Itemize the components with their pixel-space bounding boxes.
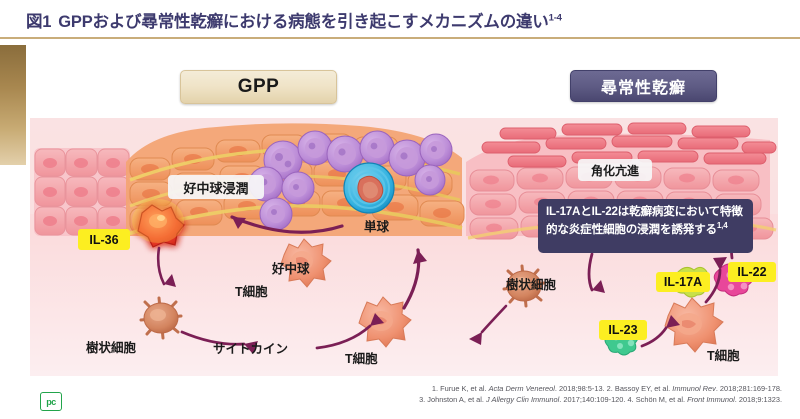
monocyte-cell: [344, 163, 394, 213]
tag-il23-label: IL-23: [608, 323, 637, 337]
left-accent-bar: [0, 45, 26, 165]
label-tcell-upper-left: T細胞: [235, 281, 268, 300]
tag-il36-label: IL-36: [89, 233, 118, 247]
tag-il22: IL-22: [728, 262, 776, 282]
tag-il17a: IL-17A: [656, 272, 710, 292]
references: 1. Furue K, et al. Acta Derm Venereol. 2…: [386, 383, 782, 406]
reference-line-1: 1. Furue K, et al. Acta Derm Venereol. 2…: [386, 383, 782, 394]
slide-root: 図1GPPおよび尋常性乾癬における病態を引き起こすメカニズムの違い1-4: [0, 0, 800, 419]
tag-il22-label: IL-22: [737, 265, 766, 279]
tag-il17a-label: IL-17A: [664, 275, 702, 289]
title-superscript: 1-4: [549, 13, 562, 24]
label-monocyte: 単球: [364, 216, 389, 235]
callout-text: IL-17AとIL-22は乾癬病変において特徴的な炎症性細胞の浸潤を誘発する: [546, 205, 743, 236]
label-neutrophil-infiltration-text: 好中球浸潤: [183, 178, 248, 197]
tag-il23: IL-23: [599, 320, 647, 340]
callout-superscript: 1,4: [717, 221, 728, 230]
label-hyperkeratosis-text: 角化亢進: [591, 162, 639, 179]
label-hyperkeratosis: 角化亢進: [578, 159, 652, 181]
callout-il17a-il22: IL-17AとIL-22は乾癬病変において特徴的な炎症性細胞の浸潤を誘発する1,…: [538, 199, 753, 253]
pc-logo-text: pc: [46, 397, 56, 407]
title-divider: [0, 37, 800, 39]
reference-line-2: 3. Johnston A, et al. J Allergy Clin Imm…: [386, 394, 782, 405]
panel-heading-psoriasis-label: 尋常性乾癬: [601, 74, 686, 98]
page-title: 図1GPPおよび尋常性乾癬における病態を引き起こすメカニズムの違い1-4: [26, 8, 562, 32]
label-neutrophil-infiltration: 好中球浸潤: [168, 175, 264, 199]
panel-heading-gpp-label: GPP: [238, 76, 280, 98]
tcell-lower-left: [359, 297, 411, 347]
panel-heading-gpp[interactable]: GPP: [180, 70, 337, 104]
title-bar: 図1GPPおよび尋常性乾癬における病態を引き起こすメカニズムの違い1-4: [0, 0, 800, 38]
page-title-text: GPPおよび尋常性乾癬における病態を引き起こすメカニズムの違い: [58, 13, 548, 31]
panel-heading-psoriasis[interactable]: 尋常性乾癬: [570, 70, 717, 102]
figure-label: 図1: [26, 13, 51, 31]
pc-logo: pc: [40, 392, 62, 411]
label-tcell-right: T細胞: [707, 345, 740, 364]
label-tcell-lower-left: T細胞: [345, 348, 378, 367]
label-dendritic-left: 樹状細胞: [86, 337, 136, 356]
tag-il36: IL-36: [78, 229, 130, 250]
label-neutrophil: 好中球: [272, 258, 310, 277]
label-dendritic-right: 樹状細胞: [506, 274, 556, 293]
label-cytokine: サイトカイン: [213, 338, 288, 357]
